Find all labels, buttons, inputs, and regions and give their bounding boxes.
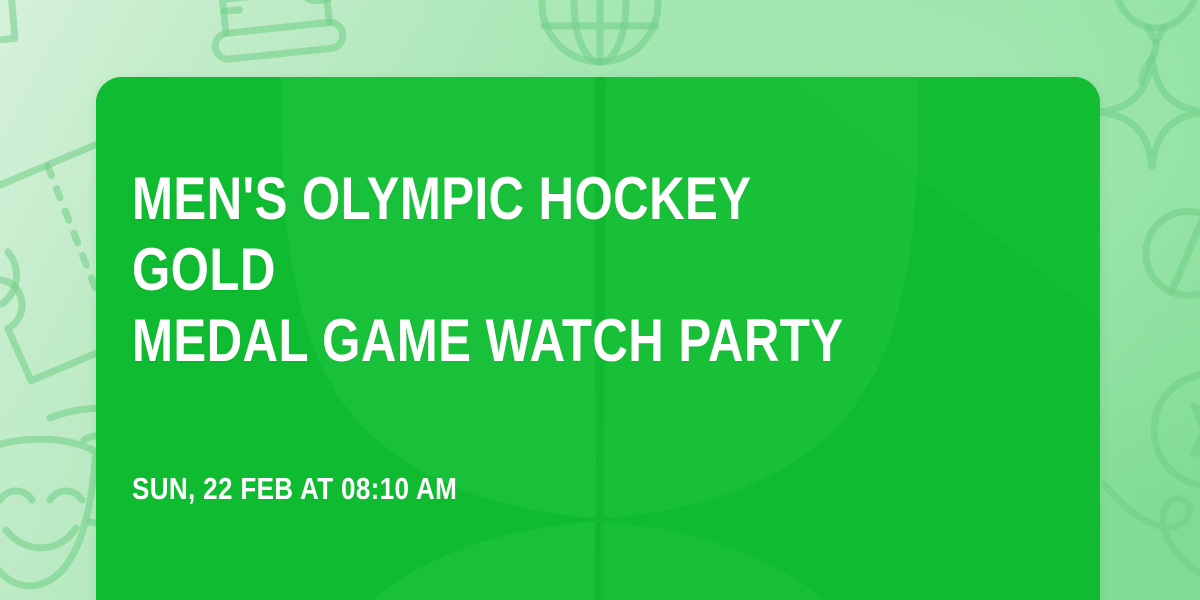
- event-banner-page: Men's Olympic Hockey Gold Medal Game Wat…: [0, 0, 1200, 600]
- event-title: Men's Olympic Hockey Gold Medal Game Wat…: [132, 163, 854, 376]
- balloon-icon: [1114, 0, 1198, 82]
- play-button-icon: [1154, 374, 1200, 486]
- microphone-icon: [1133, 194, 1200, 328]
- cake-icon: [207, 0, 345, 60]
- confetti-icon: [2, 252, 17, 304]
- globe-icon: [542, 0, 658, 62]
- event-datetime: Sun, 22 Feb at 08:10 AM: [132, 472, 457, 506]
- ticket-corner-icon: [0, 0, 21, 48]
- streamer-icon: [1104, 484, 1200, 579]
- event-card[interactable]: Men's Olympic Hockey Gold Medal Game Wat…: [96, 77, 1100, 600]
- event-card-content: Men's Olympic Hockey Gold Medal Game Wat…: [132, 77, 1052, 600]
- sparkle-icon: [1100, 58, 1200, 166]
